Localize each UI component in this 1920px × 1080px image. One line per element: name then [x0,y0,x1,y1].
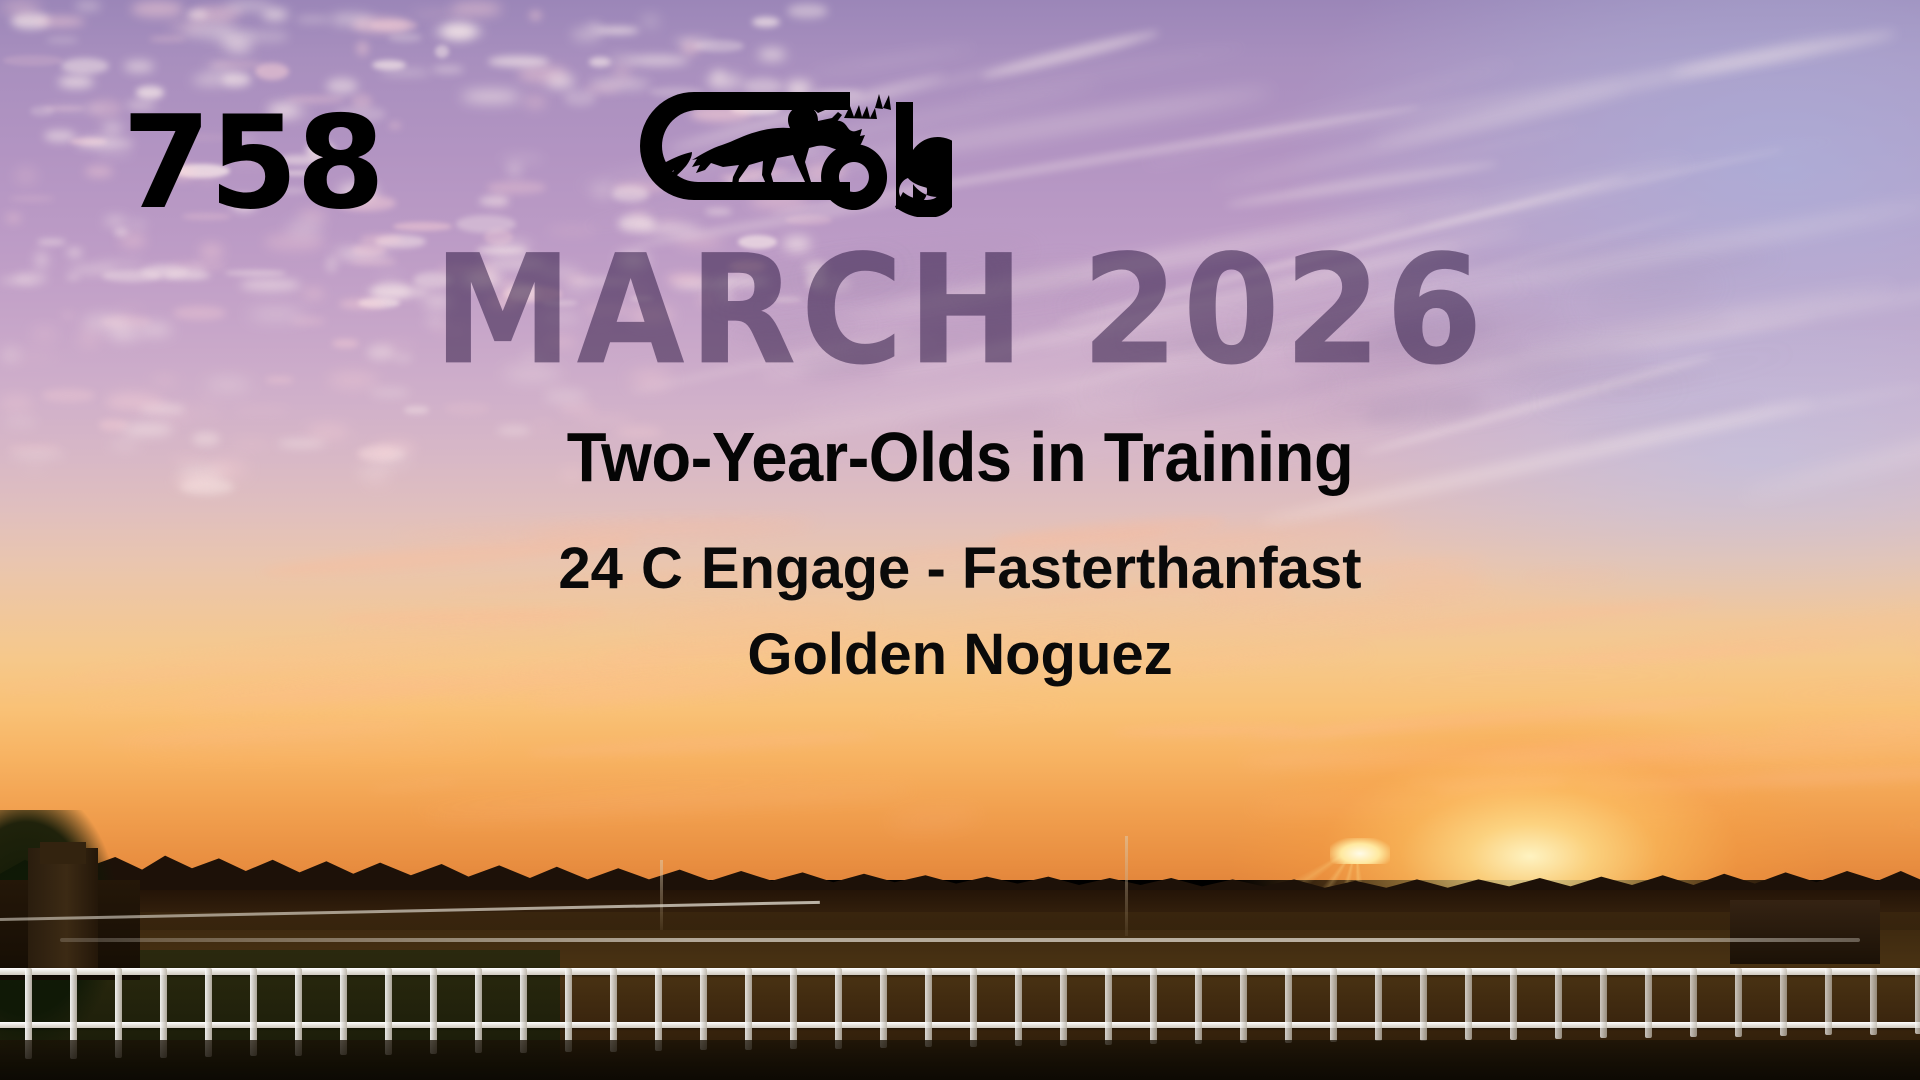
obs-logo [632,82,952,217]
observation-tower-roof [40,842,86,864]
rail-marker-pole [660,860,663,930]
consignor-name: Golden Noguez [0,626,1920,684]
hip-card: 758 [0,0,1920,1080]
pedigree-line: 24CEngage - Fasterthanfast [0,540,1920,598]
pedigree-separator: - [926,536,945,601]
rail-bar-top [0,968,1920,975]
sex-code: C [641,536,683,601]
light-pole [1125,836,1128,936]
foreground-ground [0,1040,1920,1080]
dam-name: Fasterthanfast [962,536,1362,601]
hip-number: 758 [122,100,383,228]
sun-icon [1330,838,1390,864]
foal-year: 24 [558,536,623,601]
right-structure [1730,900,1880,964]
rail-bar-bottom [0,1022,1920,1028]
sire-name: Engage [701,536,911,601]
sale-title: Two-Year-Olds in Training [67,422,1853,492]
inner-rail [60,938,1860,942]
observation-tower [28,848,98,968]
sale-month-year: MARCH 2026 [0,236,1920,387]
obs-wordmark [821,102,952,217]
